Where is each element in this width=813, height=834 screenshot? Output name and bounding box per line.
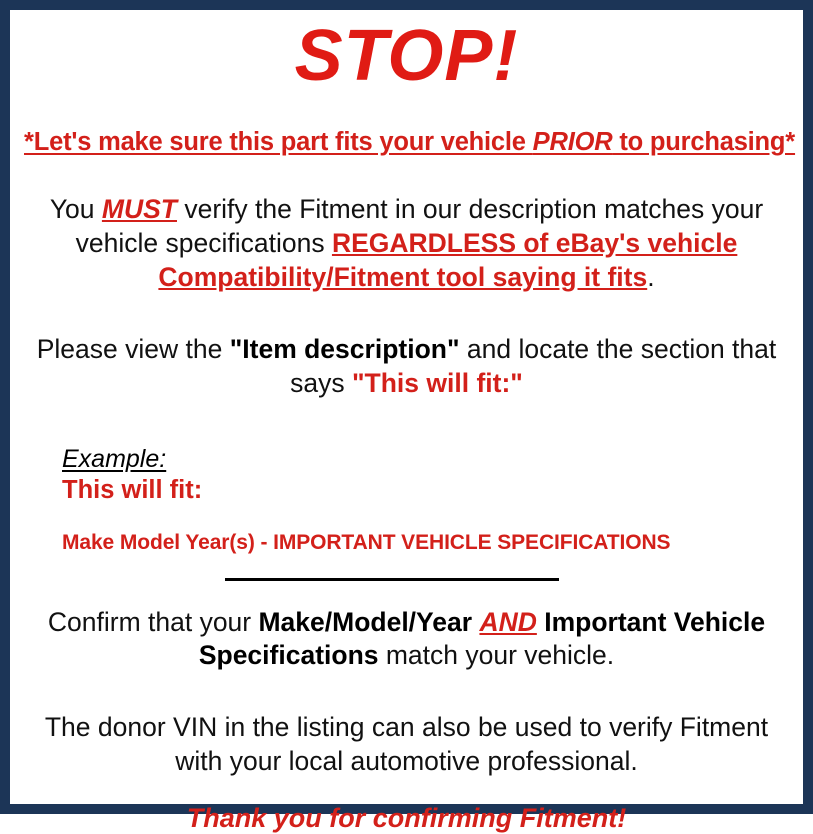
tagline-before: *Let's make sure this part fits your veh…: [24, 128, 533, 156]
and-emphasis: AND: [479, 607, 536, 637]
example-label: Example:: [62, 445, 166, 474]
confirm-part1: Confirm that your: [48, 607, 259, 637]
this-will-fit-label: "This will fit:": [352, 368, 523, 398]
example-fit-heading: This will fit:: [62, 476, 789, 505]
must-part3: .: [647, 262, 654, 292]
please-part1: Please view the: [37, 334, 230, 364]
must-verify-paragraph: You MUST verify the Fitment in our descr…: [24, 193, 789, 295]
fitment-notice-panel: STOP! *Let's make sure this part fits yo…: [0, 0, 813, 814]
divider-row: [24, 577, 789, 581]
please-view-paragraph: Please view the "Item description" and l…: [24, 333, 789, 401]
stop-heading: STOP!: [24, 20, 789, 92]
vin-paragraph: The donor VIN in the listing can also be…: [24, 711, 789, 779]
must-part1: You: [50, 194, 102, 224]
make-model-year-emphasis: Make/Model/Year: [258, 607, 472, 637]
tagline-after: to purchasing*: [612, 128, 795, 156]
confirm-paragraph: Confirm that your Make/Model/Year AND Im…: [24, 606, 789, 674]
confirm-part2: match your vehicle.: [379, 640, 615, 670]
thanks-message: Thank you for confirming Fitment!: [24, 803, 789, 834]
example-label-row: Example:: [62, 445, 789, 474]
item-description-label: "Item description": [230, 334, 460, 364]
must-emphasis: MUST: [102, 194, 177, 224]
tagline-text: *Let's make sure this part fits your veh…: [24, 128, 789, 157]
example-spec-line: Make Model Year(s) - IMPORTANT VEHICLE S…: [62, 531, 789, 555]
example-block: Example: This will fit: Make Model Year(…: [24, 445, 789, 555]
horizontal-divider: [225, 578, 559, 581]
tagline-emphasis: PRIOR: [533, 128, 613, 156]
